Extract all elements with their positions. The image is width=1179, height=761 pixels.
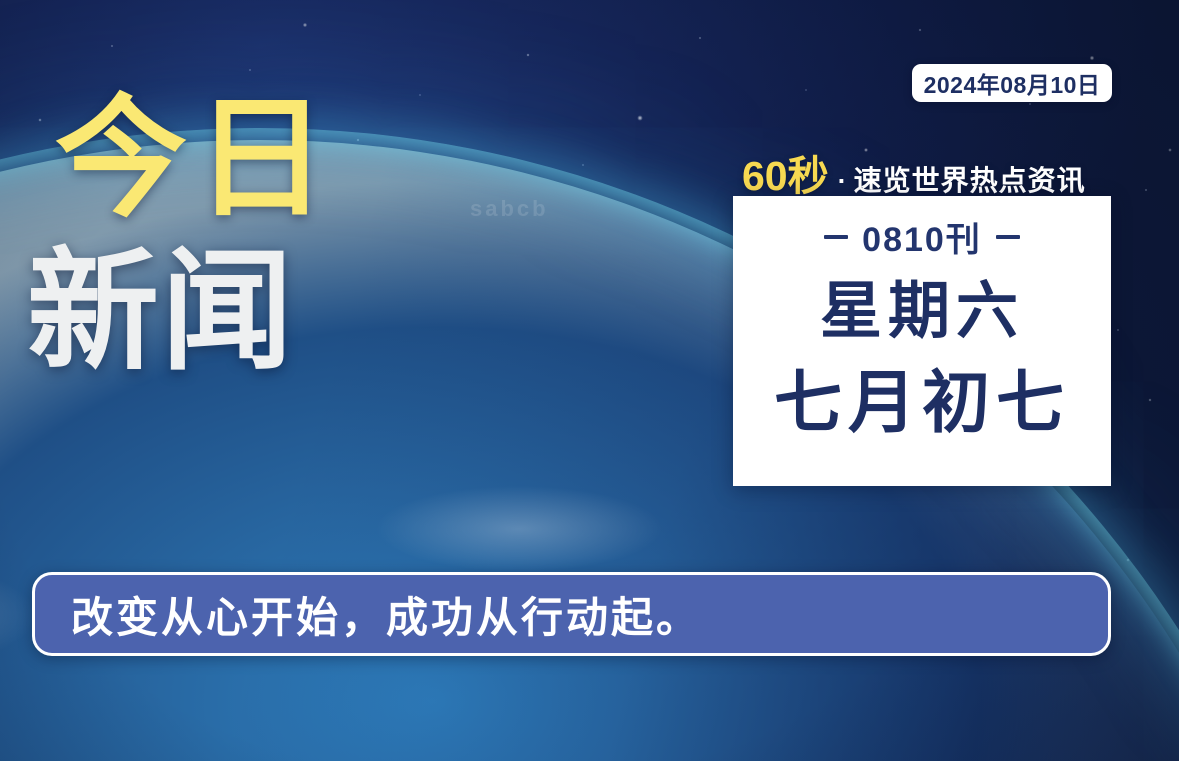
tagline: 60秒 · 速览世界热点资讯	[742, 142, 1086, 202]
tagline-separator: ·	[838, 166, 847, 197]
issue-row: 0810刊	[824, 212, 1020, 261]
quote-banner: 改变从心开始，成功从行动起。	[32, 572, 1111, 656]
info-card: 0810刊 星期六 七月初七	[733, 196, 1111, 486]
headline-line-today: 今日	[55, 96, 335, 223]
issue-dash-left-icon	[824, 235, 848, 239]
tagline-description: 速览世界热点资讯	[854, 159, 1086, 199]
date-badge: 2024年08月10日	[912, 64, 1112, 102]
issue-dash-right-icon	[996, 235, 1020, 239]
issue-number: 0810刊	[862, 212, 982, 261]
tagline-seconds: 60秒	[742, 142, 829, 202]
quote-text: 改变从心开始，成功从行动起。	[71, 584, 701, 645]
lunar-date-label: 七月初七	[774, 369, 1070, 437]
news-poster: sabcb 今日 新闻 2024年08月10日 60秒 · 速览世界热点资讯 0…	[0, 0, 1179, 761]
watermark-text: sabcb	[470, 196, 549, 222]
poster-content: sabcb 今日 新闻 2024年08月10日 60秒 · 速览世界热点资讯 0…	[0, 0, 1179, 761]
poster-headline: 今日 新闻	[55, 96, 335, 375]
date-badge-label: 2024年08月10日	[924, 66, 1101, 100]
weekday-label: 星期六	[820, 281, 1024, 343]
headline-line-news: 新闻	[27, 249, 335, 376]
